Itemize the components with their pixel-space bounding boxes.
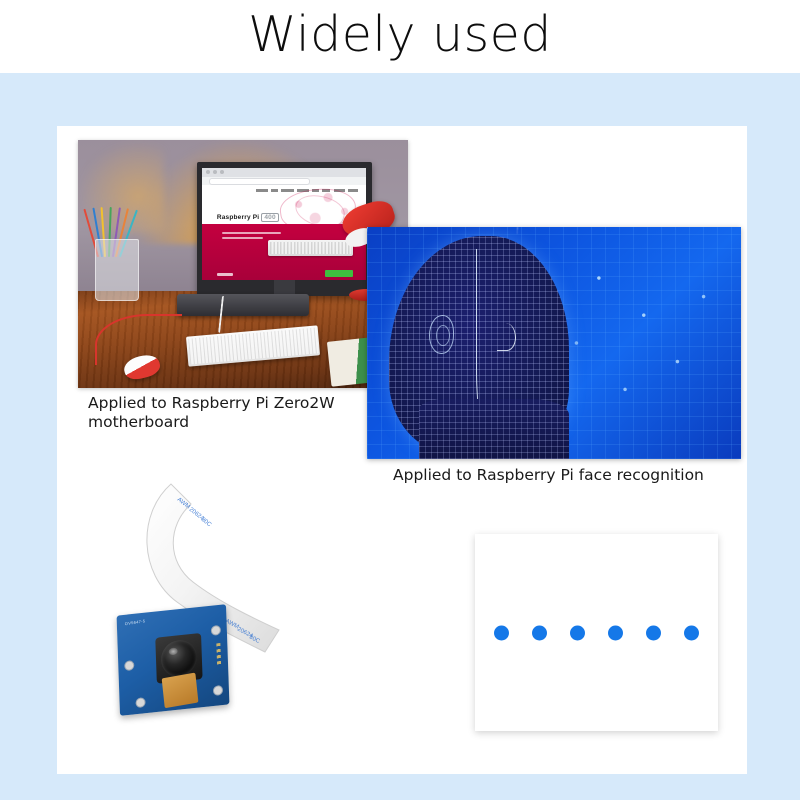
caption-desk: Applied to Raspberry Pi Zero2W motherboa… — [88, 394, 388, 432]
ear — [429, 315, 454, 354]
page-title: Widely used — [0, 6, 800, 63]
blue-dot — [646, 625, 661, 640]
dots-card — [475, 534, 718, 731]
title-band: Widely used — [0, 0, 800, 73]
blue-dot — [494, 625, 509, 640]
blue-dot — [608, 625, 623, 640]
face-recognition-photo — [367, 227, 741, 459]
nose — [497, 323, 516, 350]
neck — [419, 399, 569, 459]
pencil-cup — [95, 239, 140, 301]
site-brand: Raspberry Pi400 — [217, 213, 279, 222]
blue-dot — [532, 625, 547, 640]
pcb-label: OV5647-5 — [125, 618, 146, 626]
mount-hole — [135, 697, 145, 708]
mount-hole — [213, 685, 223, 696]
hero-band — [202, 224, 366, 280]
pcb-contact-pads — [216, 643, 221, 665]
svg-text:80C: 80C — [200, 517, 213, 529]
monitor-base — [177, 294, 309, 316]
mount-hole — [211, 625, 221, 636]
blue-dot — [684, 625, 699, 640]
hero-link — [217, 273, 233, 276]
sensor-flex-tail — [162, 673, 199, 709]
camera-module-pcb: OV5647-5 — [117, 604, 230, 716]
hero-cta-button — [325, 270, 353, 277]
nav-item — [256, 189, 268, 192]
mount-hole — [124, 660, 134, 671]
desk-setup-photo: Raspberry Pi400 — [78, 140, 408, 388]
blue-dot — [570, 625, 585, 640]
dots-row — [475, 625, 718, 640]
brand-model: 400 — [261, 213, 278, 222]
brand-name: Raspberry Pi — [217, 214, 260, 221]
hero-keyboard-image — [268, 240, 353, 256]
page-background: Widely used Raspberry Pi400 — [0, 0, 800, 800]
caption-face: Applied to Raspberry Pi face recognition — [393, 466, 743, 485]
